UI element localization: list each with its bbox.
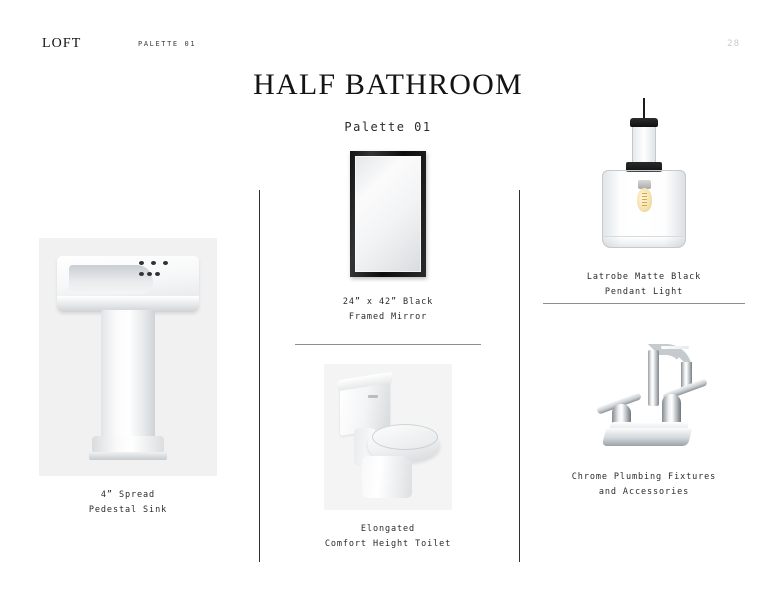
mirror-glass-shape: [355, 156, 421, 272]
sink-basin-shape: [57, 256, 199, 312]
mirror-frame-shape: [350, 151, 426, 277]
sink-foot-base-shape: [89, 452, 167, 460]
sink-faucet-hole-icon: [163, 261, 168, 265]
faucet-deck-plate-shape: [602, 428, 692, 446]
toilet-seat-shape: [372, 424, 438, 450]
sink-faucet-hole-icon: [147, 272, 152, 276]
column-divider-right: [519, 190, 520, 562]
pendant-neck-glass-shape: [632, 127, 656, 165]
pendant-light-caption: Latrobe Matte Black Pendant Light: [544, 270, 744, 300]
page-title: HALF BATHROOM: [0, 68, 776, 102]
pendant-cord-shape: [643, 98, 645, 120]
toilet-caption: Elongated Comfort Height Toilet: [286, 522, 490, 552]
center-column-divider: [295, 344, 481, 345]
product-pedestal-sink: 4” Spread Pedestal Sink: [28, 238, 228, 518]
right-column-divider: [543, 303, 745, 304]
sink-pedestal-shape: [101, 310, 155, 448]
page-header: LOFT PALETTE 01 28: [0, 36, 776, 58]
chrome-faucet-photo: [544, 330, 744, 456]
sink-faucet-hole-icon: [139, 261, 144, 265]
product-pendant-light: Latrobe Matte Black Pendant Light: [544, 98, 744, 300]
slide-page: LOFT PALETTE 01 28 HALF BATHROOM Palette…: [0, 0, 776, 600]
chrome-faucet-caption: Chrome Plumbing Fixtures and Accessories: [544, 470, 744, 500]
header-palette-label: PALETTE 01: [138, 40, 196, 48]
black-framed-mirror-photo: [286, 148, 490, 282]
pedestal-sink-photo: [39, 238, 217, 476]
sink-bowl-shape: [69, 265, 153, 294]
pendant-jar-base-shape: [602, 236, 686, 248]
page-number: 28: [727, 39, 740, 49]
bulb-filament-shape: [642, 193, 647, 207]
pendant-light-photo: [580, 98, 708, 256]
product-chrome-faucet: Chrome Plumbing Fixtures and Accessories: [544, 330, 744, 500]
sink-faucet-hole-icon: [139, 272, 144, 276]
product-toilet: Elongated Comfort Height Toilet: [286, 364, 490, 552]
comfort-height-toilet-photo: [324, 364, 452, 510]
column-divider-left: [259, 190, 260, 562]
toilet-flush-handle-icon: [368, 395, 378, 398]
framed-mirror-caption: 24” x 42” Black Framed Mirror: [286, 295, 490, 325]
sink-faucet-hole-icon: [151, 261, 156, 265]
sink-faucet-hole-icon: [155, 272, 160, 276]
toilet-base-shape: [362, 456, 412, 498]
faucet-spout-riser-shape: [648, 350, 659, 406]
brand-logo: LOFT: [42, 36, 81, 52]
product-framed-mirror: 24” x 42” Black Framed Mirror: [286, 148, 490, 325]
pendant-cap-shape: [630, 118, 658, 127]
pedestal-sink-caption: 4” Spread Pedestal Sink: [28, 488, 228, 518]
